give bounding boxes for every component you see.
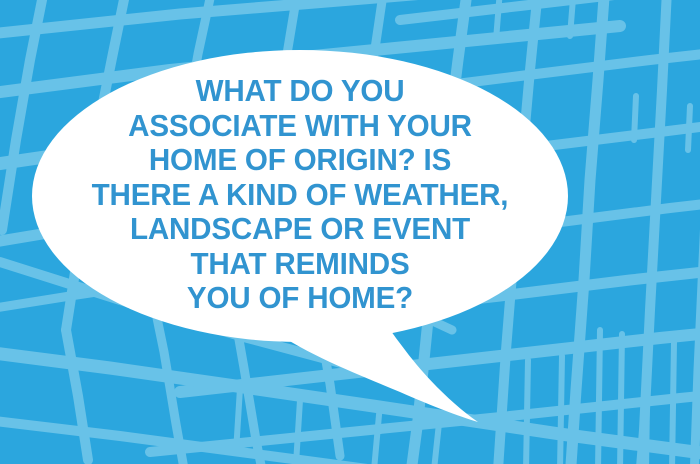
speech-bubble-shape	[32, 50, 568, 422]
speech-bubble	[0, 0, 700, 464]
poster-canvas: WHAT DO YOU ASSOCIATE WITH YOUR HOME OF …	[0, 0, 700, 464]
speech-bubble-body	[32, 50, 568, 342]
